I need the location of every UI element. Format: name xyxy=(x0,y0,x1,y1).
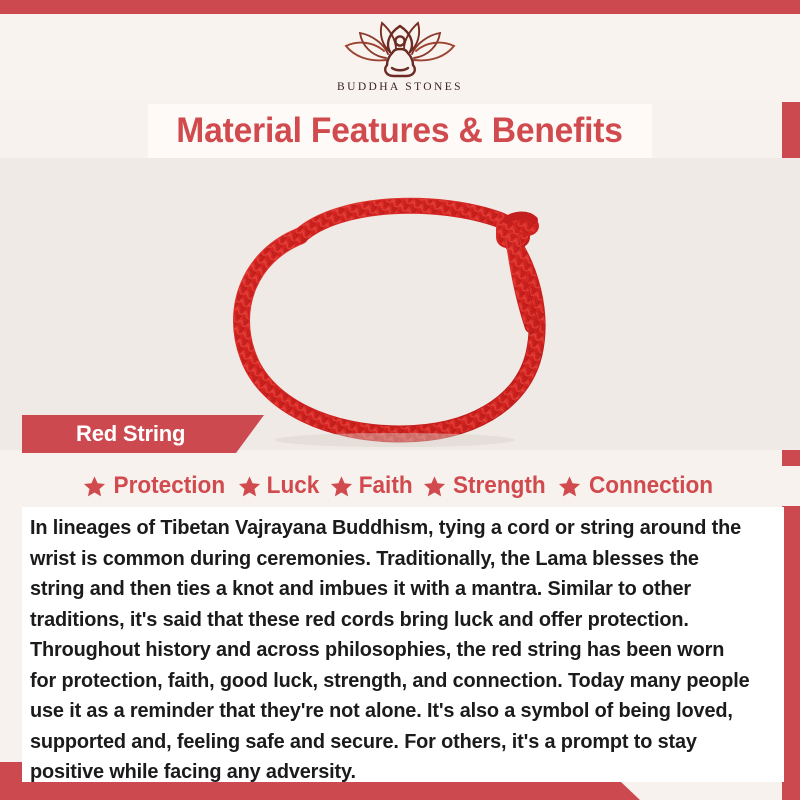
top-accent-band xyxy=(0,0,800,14)
page-title: Material Features & Benefits xyxy=(177,111,624,151)
feature-item: Connection xyxy=(558,472,717,500)
red-string-banner: Red String xyxy=(22,415,264,453)
description-paragraph: In lineages of Tibetan Vajrayana Buddhis… xyxy=(30,513,753,788)
feature-item: Luck xyxy=(238,472,321,500)
feature-item: Protection xyxy=(83,472,229,500)
feature-label: Protection xyxy=(114,472,226,500)
feature-item: Faith xyxy=(330,472,414,500)
banner-label: Red String xyxy=(76,421,185,447)
star-icon xyxy=(558,475,581,498)
infographic-page: BUDDHA STONES Material Features & Benefi… xyxy=(0,0,800,800)
feature-label: Connection xyxy=(589,472,713,500)
feature-label: Strength xyxy=(453,472,546,500)
star-icon xyxy=(423,475,446,498)
description-block: In lineages of Tibetan Vajrayana Buddhis… xyxy=(22,507,784,782)
title-banner: Material Features & Benefits xyxy=(148,104,652,158)
brand-name: BUDDHA STONES xyxy=(337,81,463,93)
feature-item: Strength xyxy=(423,472,549,500)
brand-header: BUDDHA STONES xyxy=(0,14,800,102)
star-icon xyxy=(83,475,106,498)
star-icon xyxy=(330,475,353,498)
feature-label: Faith xyxy=(359,472,413,500)
red-string-bracelet-image xyxy=(0,158,800,450)
star-icon xyxy=(238,475,261,498)
features-row: Protection Luck Faith Strength Connectio… xyxy=(0,466,800,506)
lotus-meditation-logo-icon xyxy=(334,18,466,80)
feature-label: Luck xyxy=(267,472,320,500)
